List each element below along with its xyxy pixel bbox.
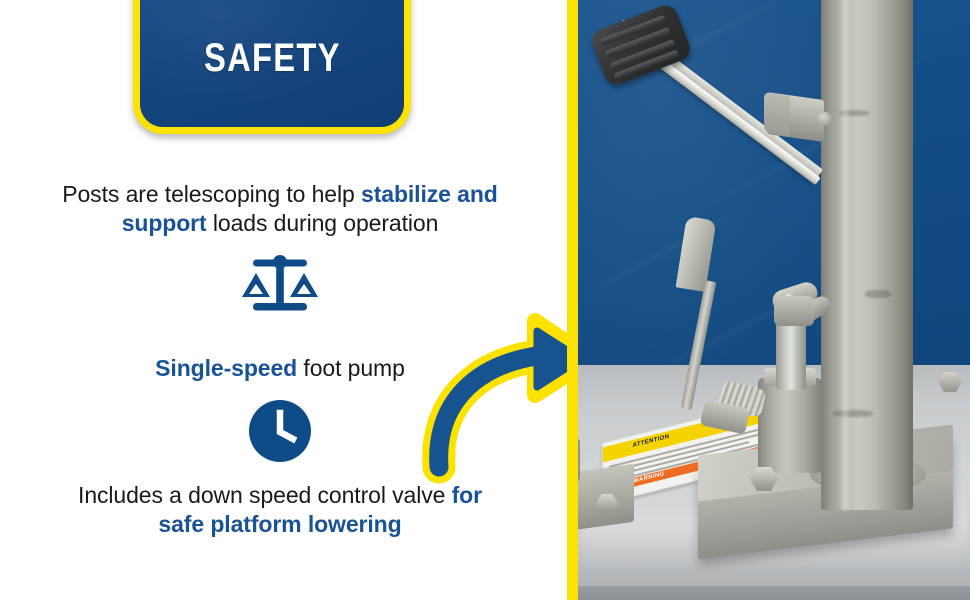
pump-linkage [774, 296, 814, 326]
feature-2-part-1: Single-speed [155, 355, 297, 381]
feature-telescoping-posts-text: Posts are telescoping to help stabilize … [0, 180, 560, 238]
clock-icon [249, 400, 311, 462]
safety-badge-inner: SAFETY [140, 0, 404, 127]
feature-2-part-2: foot pump [297, 355, 405, 381]
feature-telescoping-posts: Posts are telescoping to help stabilize … [0, 180, 560, 238]
balance-scale-icon [240, 253, 320, 319]
feature-3-part-1: Includes a down speed control valve [78, 482, 452, 508]
warning-label-attention-text: ATTENTION [633, 434, 670, 449]
product-photo: ATTENTION WARNING [578, 0, 970, 600]
feature-down-speed-valve: Includes a down speed control valve for … [0, 481, 560, 539]
telescoping-post [821, 0, 913, 510]
bracket-pivot-bolt [818, 112, 832, 126]
post-highlight [840, 0, 850, 510]
infographic-page: SAFETY Posts are telescoping to help sta… [0, 0, 970, 600]
secondary-base-stud [578, 438, 580, 482]
feature-down-speed-valve-text: Includes a down speed control valve for … [0, 481, 560, 539]
post-mounted-bracket-lip [764, 92, 790, 137]
safety-badge: SAFETY [133, 0, 411, 134]
balance-scale-icon-wrap [0, 253, 560, 319]
curved-arrow-icon [415, 315, 567, 480]
yellow-divider [567, 0, 578, 600]
left-content-panel: SAFETY Posts are telescoping to help sta… [0, 0, 567, 600]
photo-floor-band [578, 586, 970, 600]
safety-badge-title: SAFETY [204, 38, 341, 78]
cylinder-rod [776, 320, 806, 390]
feature-1-part-1: Posts are telescoping to help [62, 181, 361, 207]
feature-1-part-3: loads during operation [207, 210, 439, 236]
hydraulic-cylinder [758, 378, 822, 473]
